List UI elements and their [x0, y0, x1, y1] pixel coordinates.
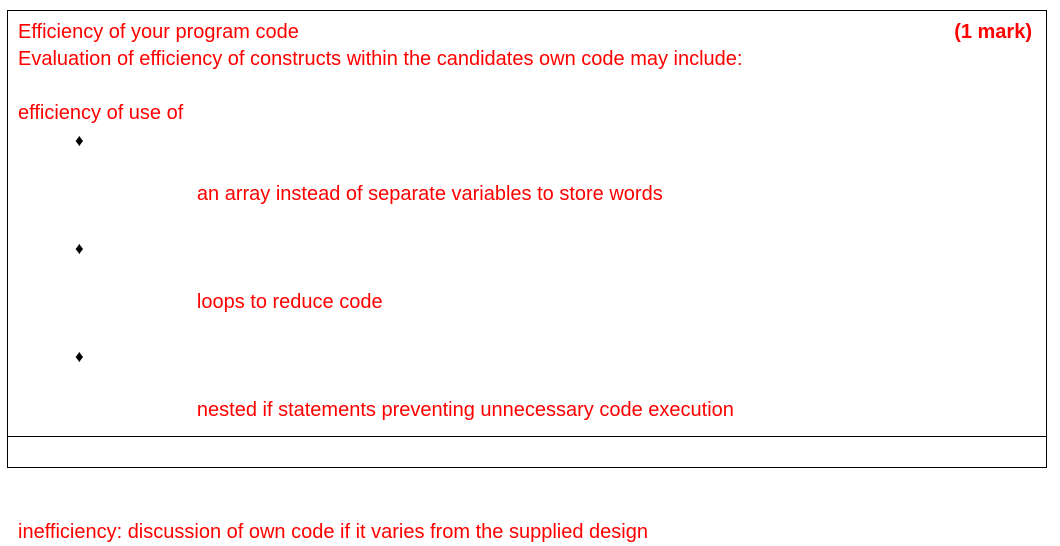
spacer-4 [18, 505, 1036, 519]
subheading-text: Evaluation of efficiency of constructs w… [18, 46, 1036, 73]
list-item-label: loops to reduce code [197, 291, 383, 313]
cell-content: Efficiency of your program code (1 mark)… [8, 11, 1046, 436]
diamond-bullet-icon: ♦ [75, 127, 84, 154]
list-item-label: nested if statements preventing unnecess… [197, 399, 734, 421]
page-title: Efficiency of your program code [18, 19, 299, 46]
list-item: ♦ an array instead of separate variables… [18, 127, 1036, 235]
mark-scheme-table: Efficiency of your program code (1 mark)… [7, 10, 1047, 468]
list-intro-text: efficiency of use of [18, 100, 1036, 127]
diamond-bullet-icon: ♦ [75, 343, 84, 370]
heading-row: Efficiency of your program code (1 mark) [18, 19, 1036, 46]
spacer-1 [18, 73, 1036, 100]
closing-note-text: inefficiency: discussion of own code if … [18, 519, 1036, 546]
list-item: ♦ loops to reduce code [18, 235, 1036, 343]
mark-scheme-cell: Efficiency of your program code (1 mark)… [8, 11, 1047, 437]
list-item: ♦ nested if statements preventing unnece… [18, 343, 1036, 451]
diamond-bullet-icon: ♦ [75, 235, 84, 262]
bullet-list: ♦ an array instead of separate variables… [18, 127, 1036, 451]
marks-label: (1 mark) [954, 19, 1036, 46]
page-canvas: Efficiency of your program code (1 mark)… [0, 0, 1060, 450]
spacer-3 [18, 478, 1036, 505]
table-row-efficiency: Efficiency of your program code (1 mark)… [8, 11, 1047, 437]
list-item-label: an array instead of separate variables t… [197, 183, 663, 205]
